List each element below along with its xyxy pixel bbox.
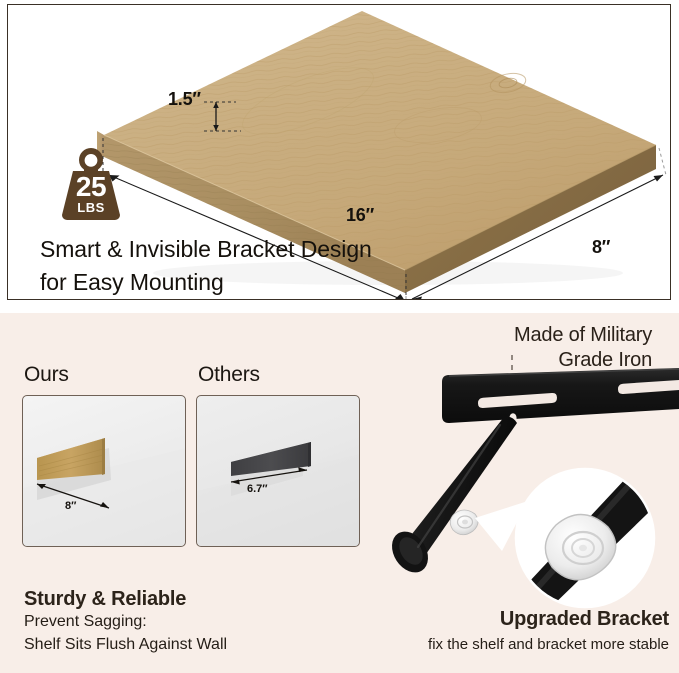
comparison-title-others: Others bbox=[198, 363, 260, 387]
comparison-panel-others: 6.7″ bbox=[196, 395, 360, 547]
dimension-label-length: 16″ bbox=[346, 205, 374, 226]
comparison-title-ours: Ours bbox=[24, 363, 69, 387]
sturdy-line-2: Shelf Sits Flush Against Wall bbox=[24, 636, 227, 654]
others-dimension-label: 6.7″ bbox=[247, 483, 268, 495]
sturdy-line-1: Prevent Sagging: bbox=[24, 613, 147, 631]
bracket-support-rod bbox=[385, 417, 517, 580]
top-panel-headline: Smart & Invisible Bracket Design for Eas… bbox=[40, 233, 460, 299]
dimension-label-depth: 8″ bbox=[592, 237, 610, 258]
headline-line-1: Smart & Invisible Bracket Design bbox=[40, 233, 460, 266]
upgraded-bracket-heading: Upgraded Bracket bbox=[500, 608, 669, 631]
military-grade-line-2: Grade Iron bbox=[558, 349, 652, 372]
comparison-panel-ours: 8″ bbox=[22, 395, 186, 547]
bracket-screw bbox=[450, 510, 478, 535]
military-grade-line-1: Made of Military bbox=[514, 324, 652, 347]
infographic-canvas: 25 LBS 1.5″ 16″ 8″ Smart & Invisible Bra… bbox=[0, 0, 679, 673]
headline-line-2: for Easy Mounting bbox=[40, 266, 460, 299]
others-shelf-image: 6.7″ bbox=[197, 396, 360, 547]
weight-value: 25 bbox=[56, 171, 126, 203]
ours-dimension-label: 8″ bbox=[65, 500, 77, 512]
sturdy-heading: Sturdy & Reliable bbox=[24, 588, 186, 611]
weight-capacity-badge: 25 LBS bbox=[56, 145, 126, 223]
upgraded-bracket-subtext: fix the shelf and bracket more stable bbox=[428, 636, 669, 653]
top-product-panel: 25 LBS 1.5″ 16″ 8″ Smart & Invisible Bra… bbox=[7, 4, 671, 300]
weight-unit: LBS bbox=[56, 200, 126, 215]
magnifier-callout bbox=[500, 431, 679, 613]
bracket-wall-plate bbox=[442, 368, 679, 423]
dimension-label-thickness: 1.5″ bbox=[168, 89, 201, 110]
ours-shelf-image: 8″ bbox=[23, 396, 186, 547]
